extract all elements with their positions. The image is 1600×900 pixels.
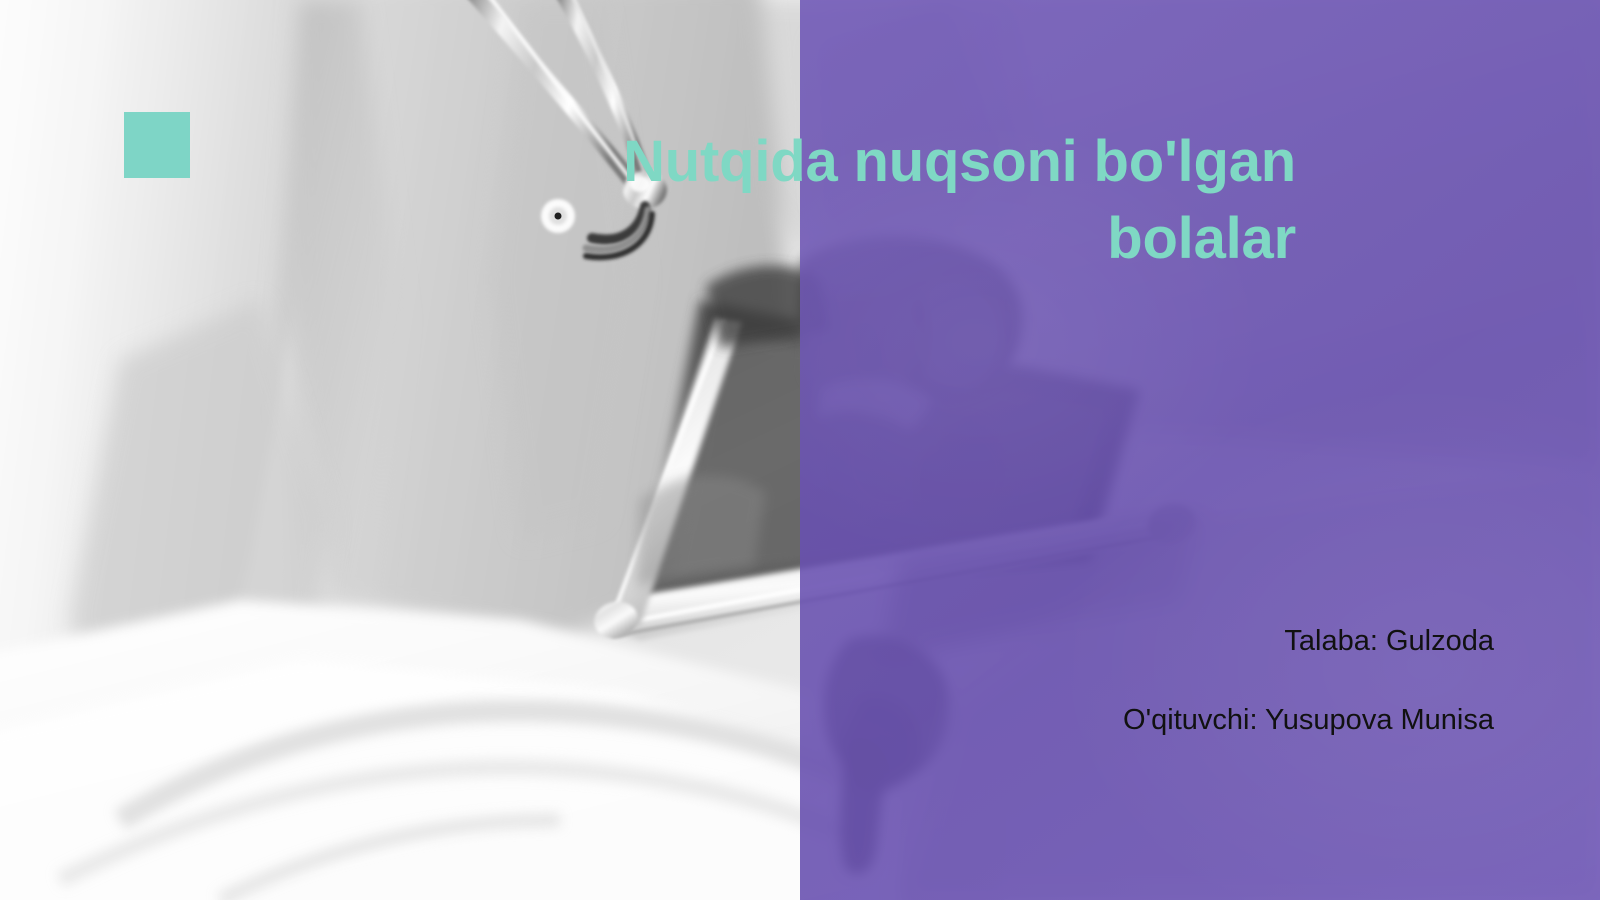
credit-student: Talaba: Gulzoda [900, 624, 1494, 659]
teal-accent-square [124, 112, 190, 178]
credit-teacher: O'qituvchi: Yusupova Munisa [900, 703, 1494, 738]
slide-credits: Talaba: Gulzoda O'qituvchi: Yusupova Mun… [900, 624, 1494, 738]
slide-title: Nutqida nuqsoni bo'lgan bolalar [440, 124, 1296, 277]
title-slide: Nutqida nuqsoni bo'lgan bolalar Talaba: … [0, 0, 1600, 900]
slide-title-text: Nutqida nuqsoni bo'lgan bolalar [440, 124, 1296, 277]
